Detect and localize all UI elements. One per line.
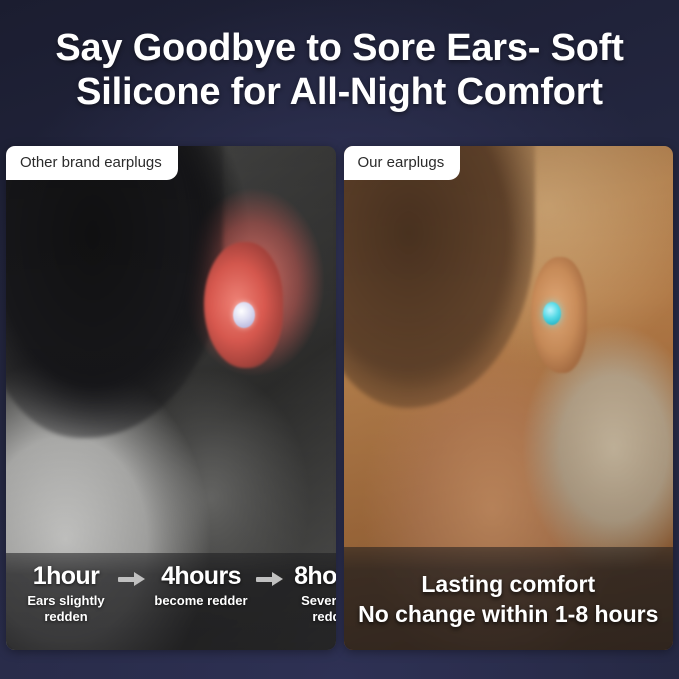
our-earplugs-caption: Lasting comfort No change within 1-8 hou…	[344, 547, 674, 650]
badge-our-earplugs: Our earplugs	[344, 146, 461, 180]
comparison-panels: Other brand earplugs 1hour Ears slightly…	[6, 146, 673, 650]
timeline-step-3: 8hours Severe ear redden	[284, 562, 336, 625]
product-comparison-poster: Say Goodbye to Sore Ears- Soft Silicone …	[0, 0, 679, 679]
other-brand-caption: 1hour Ears slightly redden 4hours become…	[6, 553, 336, 650]
timeline-step-2: 4hours become redder	[146, 562, 256, 609]
page-title: Say Goodbye to Sore Ears- Soft Silicone …	[0, 26, 679, 114]
arrow-right-icon	[256, 565, 284, 594]
arrow-right-icon	[118, 565, 146, 594]
timeline-desc-2: become redder	[146, 593, 256, 609]
panel-our-earplugs: Our earplugs Lasting comfort No change w…	[344, 146, 674, 650]
caption-line-1: Lasting comfort	[354, 569, 664, 599]
headline-line-1: Say Goodbye to Sore Ears- Soft	[16, 26, 663, 70]
timeline-time-1: 1hour	[14, 562, 118, 591]
badge-other-brand: Other brand earplugs	[6, 146, 178, 180]
panel-other-brand: Other brand earplugs 1hour Ears slightly…	[6, 146, 336, 650]
timeline-desc-3: Severe ear redden	[284, 593, 336, 625]
caption-line-2: No change within 1-8 hours	[354, 599, 664, 629]
timeline-step-1: 1hour Ears slightly redden	[14, 562, 118, 625]
timeline-desc-1: Ears slightly redden	[14, 593, 118, 625]
timeline-time-2: 4hours	[146, 562, 256, 591]
headline-line-2: Silicone for All-Night Comfort	[16, 70, 663, 114]
irritation-timeline: 1hour Ears slightly redden 4hours become…	[14, 562, 328, 625]
timeline-time-3: 8hours	[284, 562, 336, 591]
